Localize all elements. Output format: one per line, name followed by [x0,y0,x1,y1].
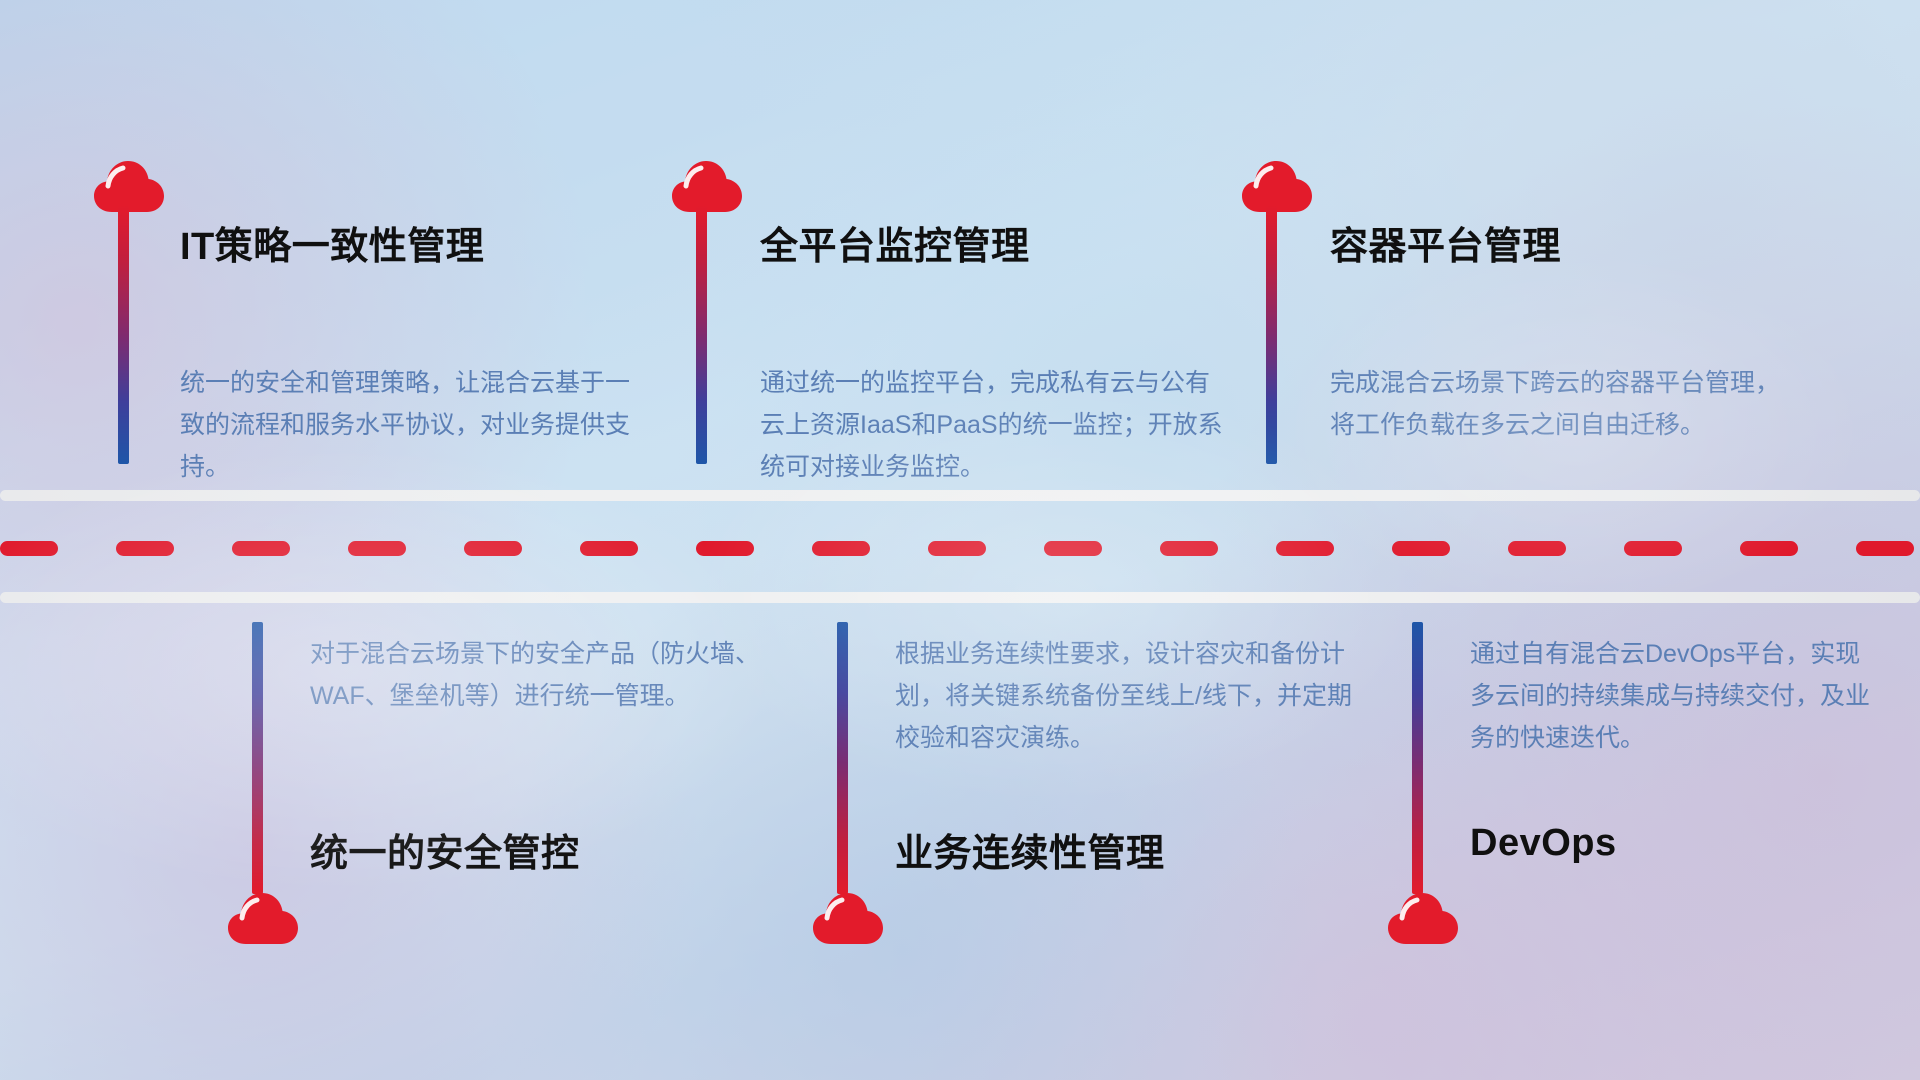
infographic-canvas: IT策略一致性管理 统一的安全和管理策略，让混合云基于一致的流程和服务水平协议，… [0,0,1920,1080]
card-body-text: 根据业务连续性要求，设计容灾和备份计划，将关键系统备份至线上/线下，并定期校验和… [895,633,1365,759]
cloud-icon [670,158,744,214]
connector-stem [118,206,129,464]
card-heading: IT策略一致性管理 [180,215,484,270]
road-dash-segment [1624,541,1682,556]
road-divider [0,490,1920,501]
card-heading: 全平台监控管理 [760,215,1030,270]
road-dash-segment [928,541,986,556]
cloud-icon [811,890,885,946]
card-heading: 容器平台管理 [1330,215,1561,270]
road-dash-segment [232,541,290,556]
connector-stem [1412,622,1423,894]
road-dash-segment [348,541,406,556]
road-dash-segment [1044,541,1102,556]
road-dash-segment [1160,541,1218,556]
road-dash-segment [0,541,58,556]
road-dash-segment [1740,541,1798,556]
cloud-icon [1386,890,1460,946]
road-edge-top [0,490,1920,501]
card-body-text: 通过自有混合云DevOps平台，实现多云间的持续集成与持续交付，及业务的快速迭代… [1470,633,1870,759]
road-dash-segment [116,541,174,556]
road-dash-segment [696,541,754,556]
cloud-icon [1240,158,1314,214]
card-body-text: 完成混合云场景下跨云的容器平台管理，将工作负载在多云之间自由迁移。 [1330,362,1800,446]
road-dash-segment [1856,541,1914,556]
road-dash-segment [1508,541,1566,556]
road-dash-segment [580,541,638,556]
card-body-text: 对于混合云场景下的安全产品（防火墙、WAF、堡垒机等）进行统一管理。 [310,633,780,717]
card-heading: DevOps [1470,822,1617,865]
cloud-icon [92,158,166,214]
connector-stem [696,206,707,464]
connector-stem [837,622,848,894]
connector-stem [252,622,263,894]
road-edge-bottom [0,592,1920,603]
road-dash-segment [812,541,870,556]
road-dash-line [0,541,1920,556]
road-dash-segment [1392,541,1450,556]
card-heading: 统一的安全管控 [310,822,580,877]
road-divider-bottom [0,592,1920,603]
road-dash-segment [1276,541,1334,556]
cloud-icon [226,890,300,946]
card-body-text: 通过统一的监控平台，完成私有云与公有云上资源IaaS和PaaS的统一监控；开放系… [760,362,1230,488]
card-heading: 业务连续性管理 [895,822,1165,877]
road-dash-segment [464,541,522,556]
card-body-text: 统一的安全和管理策略，让混合云基于一致的流程和服务水平协议，对业务提供支持。 [180,362,650,488]
connector-stem [1266,206,1277,464]
